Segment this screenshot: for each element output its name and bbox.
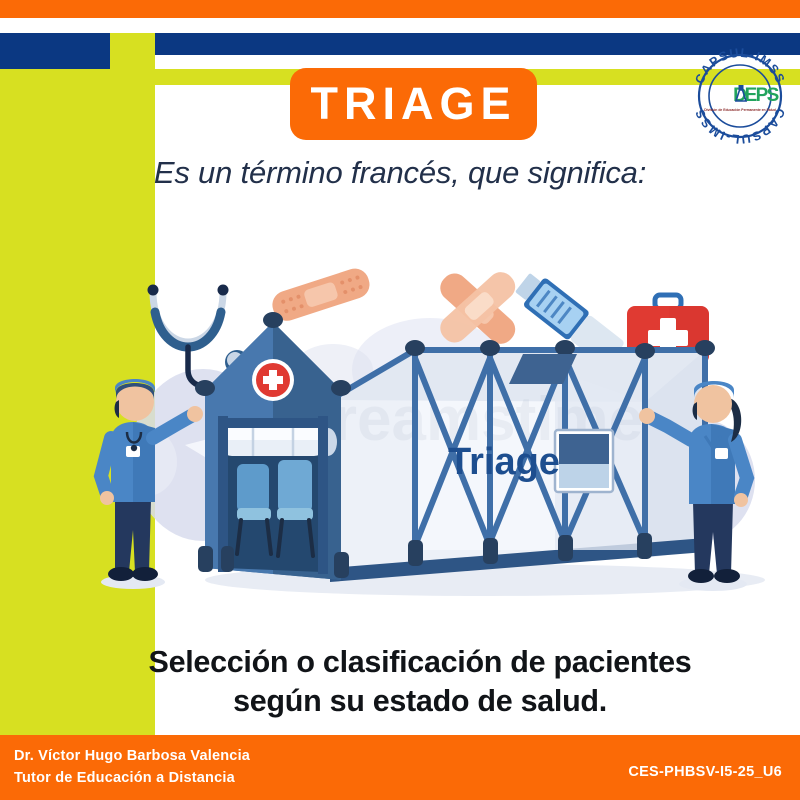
caption-line-2: según su estado de salud. xyxy=(90,682,750,721)
red-cross-badge-icon xyxy=(252,359,294,401)
caption-block: Selección o clasificación de pacientes s… xyxy=(90,643,750,720)
page-title: TRIAGE xyxy=(310,78,516,130)
document-code: CES-PHBSV-I5-25_U6 xyxy=(628,764,782,780)
footer-bar: Dr. Víctor Hugo Barbosa Valencia Tutor d… xyxy=(0,735,800,800)
svg-text:S: S xyxy=(767,85,780,106)
bandage-icon xyxy=(269,265,373,324)
illustration-svg: dreamstime xyxy=(85,250,775,630)
dieps-logo: CAPSUL-IMSS CAPSUL-IMSS D E P S División… xyxy=(689,45,791,147)
left-navy-block xyxy=(0,33,110,69)
slide-canvas: TRIAGE Es un término francés, que signif… xyxy=(0,0,800,800)
caption-line-1: Selección o clasificación de pacientes xyxy=(90,643,750,682)
author-name: Dr. Víctor Hugo Barbosa Valencia xyxy=(14,745,250,767)
tent-label: Triage xyxy=(448,441,560,483)
author-block: Dr. Víctor Hugo Barbosa Valencia Tutor d… xyxy=(14,745,250,790)
left-orange-block xyxy=(0,0,82,18)
top-white-gap xyxy=(120,18,800,33)
tent-window xyxy=(555,430,613,492)
subtitle-text: Es un término francés, que significa: xyxy=(0,155,800,191)
dieps-logo-svg: CAPSUL-IMSS CAPSUL-IMSS D E P S División… xyxy=(689,45,791,147)
triage-tent-illustration: dreamstime xyxy=(85,250,775,630)
title-badge: TRIAGE xyxy=(290,68,537,140)
author-role: Tutor de Educación a Distancia xyxy=(14,767,250,789)
top-orange-bar xyxy=(0,0,800,18)
logo-tagline: División de Educación Permanente en Salu… xyxy=(704,108,776,112)
